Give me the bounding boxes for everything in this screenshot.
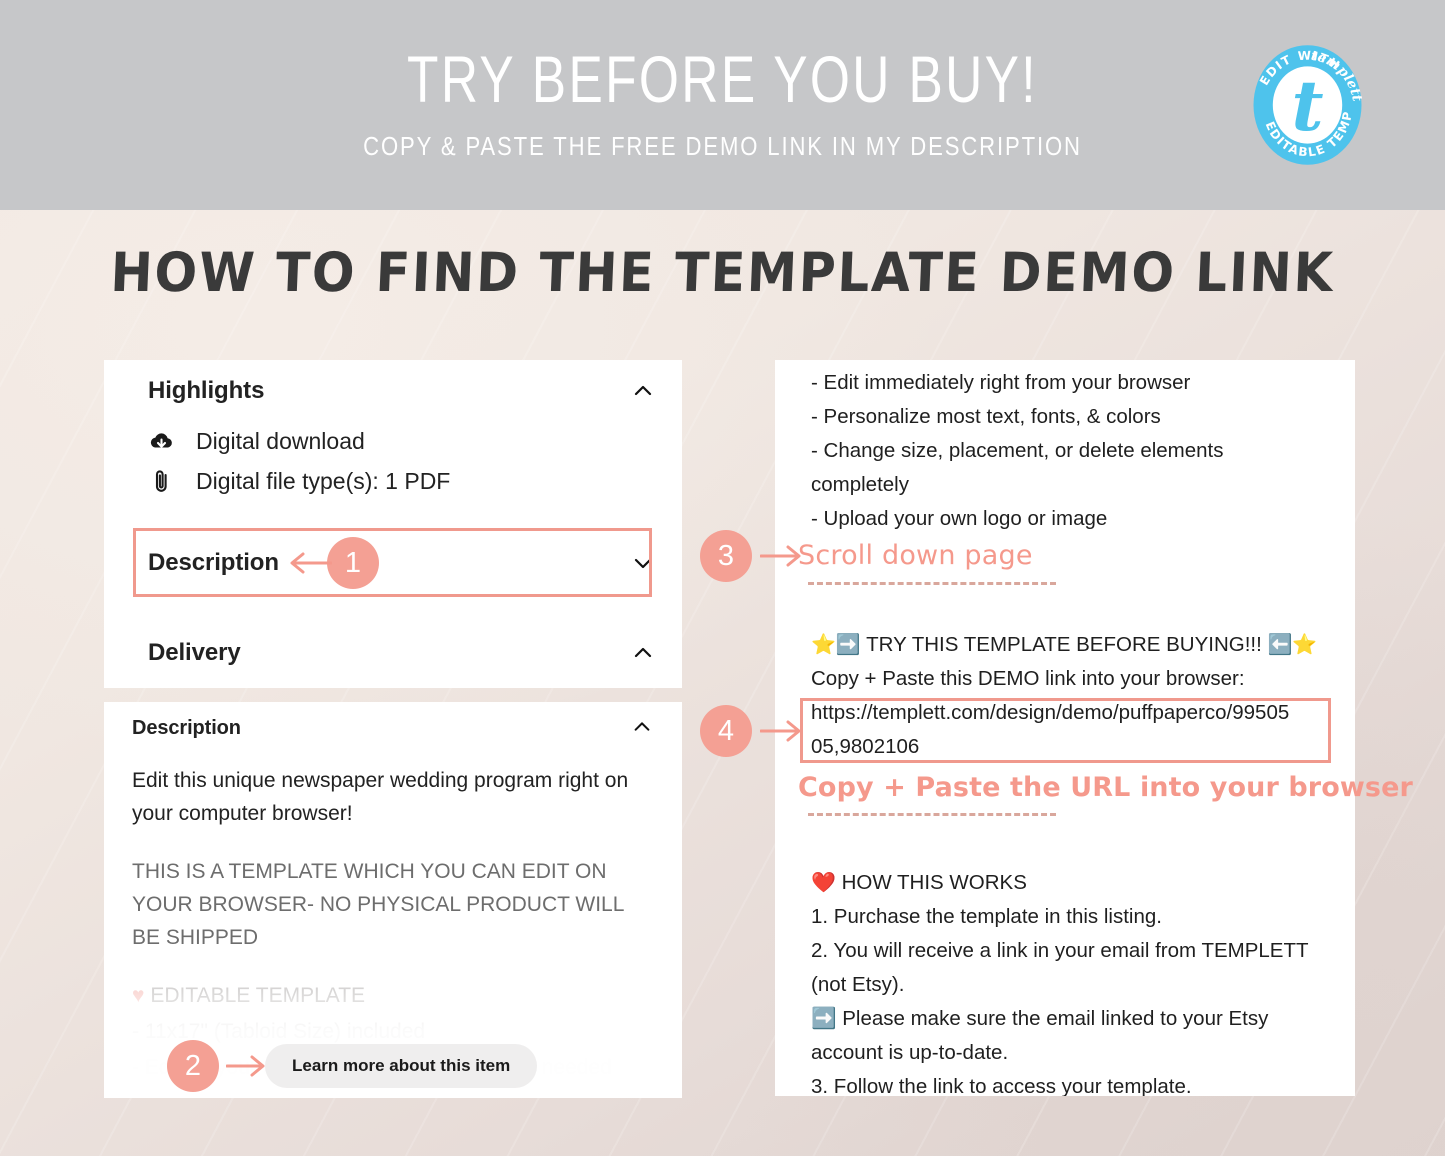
description-card: Description Edit this unique newspaper w… [104,702,682,1098]
step-badge-2: 2 [167,1040,219,1092]
chevron-up-icon[interactable] [632,380,654,402]
step-badge-4: 4 [700,705,752,757]
highlight-box-description-row [133,528,652,597]
description-paragraph: Edit this unique newspaper wedding progr… [132,764,652,830]
star-icon: ⭐ [1292,634,1317,656]
description-paragraph-text: EDITABLE TEMPLATE [150,984,365,1007]
arrow-right-emoji-icon: ➡️ [836,634,861,656]
list-item: completely [811,468,1323,502]
copy-paste-instruction: Copy + Paste this DEMO link into your br… [811,662,1323,696]
highlight-item-label: Digital file type(s): 1 PDF [196,468,450,495]
list-item: - Edit immediately right from your brows… [811,366,1323,400]
try-template-text: TRY THIS TEMPLATE BEFORE BUYING!!! [866,633,1262,656]
arrow-right-icon [760,718,802,744]
arrow-left-icon [288,550,332,576]
step-badge-3: 3 [700,530,752,582]
arrow-right-icon [760,543,802,569]
chevron-up-icon[interactable] [632,717,654,739]
banner-title: TRY BEFORE YOU BUY! [159,46,1286,112]
how-it-works-step: account is up-to-date. [811,1036,1323,1070]
annotation-copy-url: Copy + Paste the URL into your browser [798,772,1413,803]
how-it-works-title-row: ❤️ HOW THIS WORKS [811,866,1323,900]
highlights-card: Highlights Digital download Digital file… [104,360,682,688]
description-paragraph: THIS IS A TEMPLATE WHICH YOU CAN EDIT ON… [132,855,652,954]
description-card-header-row[interactable]: Description [104,702,682,754]
star-icon: ⭐ [811,634,836,656]
highlight-item-file-type: Digital file type(s): 1 PDF [148,467,450,495]
dashed-divider [808,813,1056,816]
how-it-works-block: ❤️ HOW THIS WORKS 1. Purchase the templa… [811,866,1323,1096]
how-it-works-step: 2. You will receive a link in your email… [811,934,1323,968]
annotation-scroll-down: Scroll down page [798,540,1033,571]
banner-subtitle: COPY & PASTE THE FREE DEMO LINK IN MY DE… [108,133,1336,159]
how-it-works-step: (not Etsy). [811,968,1323,1002]
cloud-download-icon [148,427,174,455]
svg-text:t: t [1291,66,1323,147]
arrow-left-emoji-icon: ⬅️ [1268,634,1293,656]
how-it-works-step: 1. Purchase the template in this listing… [811,900,1323,934]
chevron-up-icon[interactable] [632,642,654,664]
list-item: - Change size, placement, or delete elem… [811,434,1323,468]
learn-more-button[interactable]: Learn more about this item [265,1044,537,1088]
highlight-item-digital-download: Digital download [148,427,365,455]
dashed-divider [808,582,1056,585]
paperclip-icon [148,467,174,495]
try-template-line: ⭐➡️ TRY THIS TEMPLATE BEFORE BUYING!!! ⬅… [811,628,1323,662]
description-card-header: Description [132,717,241,740]
red-heart-icon: ❤️ [811,872,836,894]
highlight-item-label: Digital download [196,428,365,455]
list-item: - Personalize most text, fonts, & colors [811,400,1323,434]
heart-icon: ♥ [132,984,144,1007]
description-paragraph: ♥ EDITABLE TEMPLATE [132,979,652,1012]
templett-badge-icon: EDIT WITH templett EDITABLE TEMPLATE t [1240,32,1375,178]
how-it-works-title: HOW THIS WORKS [842,871,1027,894]
top-banner: TRY BEFORE YOU BUY! COPY & PASTE THE FRE… [0,0,1445,210]
page-title: HOW TO FIND THE TEMPLATE DEMO LINK [49,243,1395,302]
step-badge-1: 1 [327,537,379,589]
accordion-highlights[interactable]: Highlights [104,360,682,422]
how-it-works-step: 3. Follow the link to access your templa… [811,1070,1323,1096]
highlights-header: Highlights [148,377,264,405]
delivery-row-header: Delivery [148,639,241,667]
feature-list: - Edit immediately right from your brows… [811,366,1323,536]
list-item: - Upload your own logo or image [811,502,1323,536]
highlight-box-demo-url [800,698,1331,763]
arrow-right-icon [226,1053,266,1079]
accordion-delivery[interactable]: Delivery [104,622,682,684]
page-canvas: TRY BEFORE YOU BUY! COPY & PASTE THE FRE… [0,0,1445,1156]
how-it-works-step: ➡️ Please make sure the email linked to … [811,1002,1323,1036]
